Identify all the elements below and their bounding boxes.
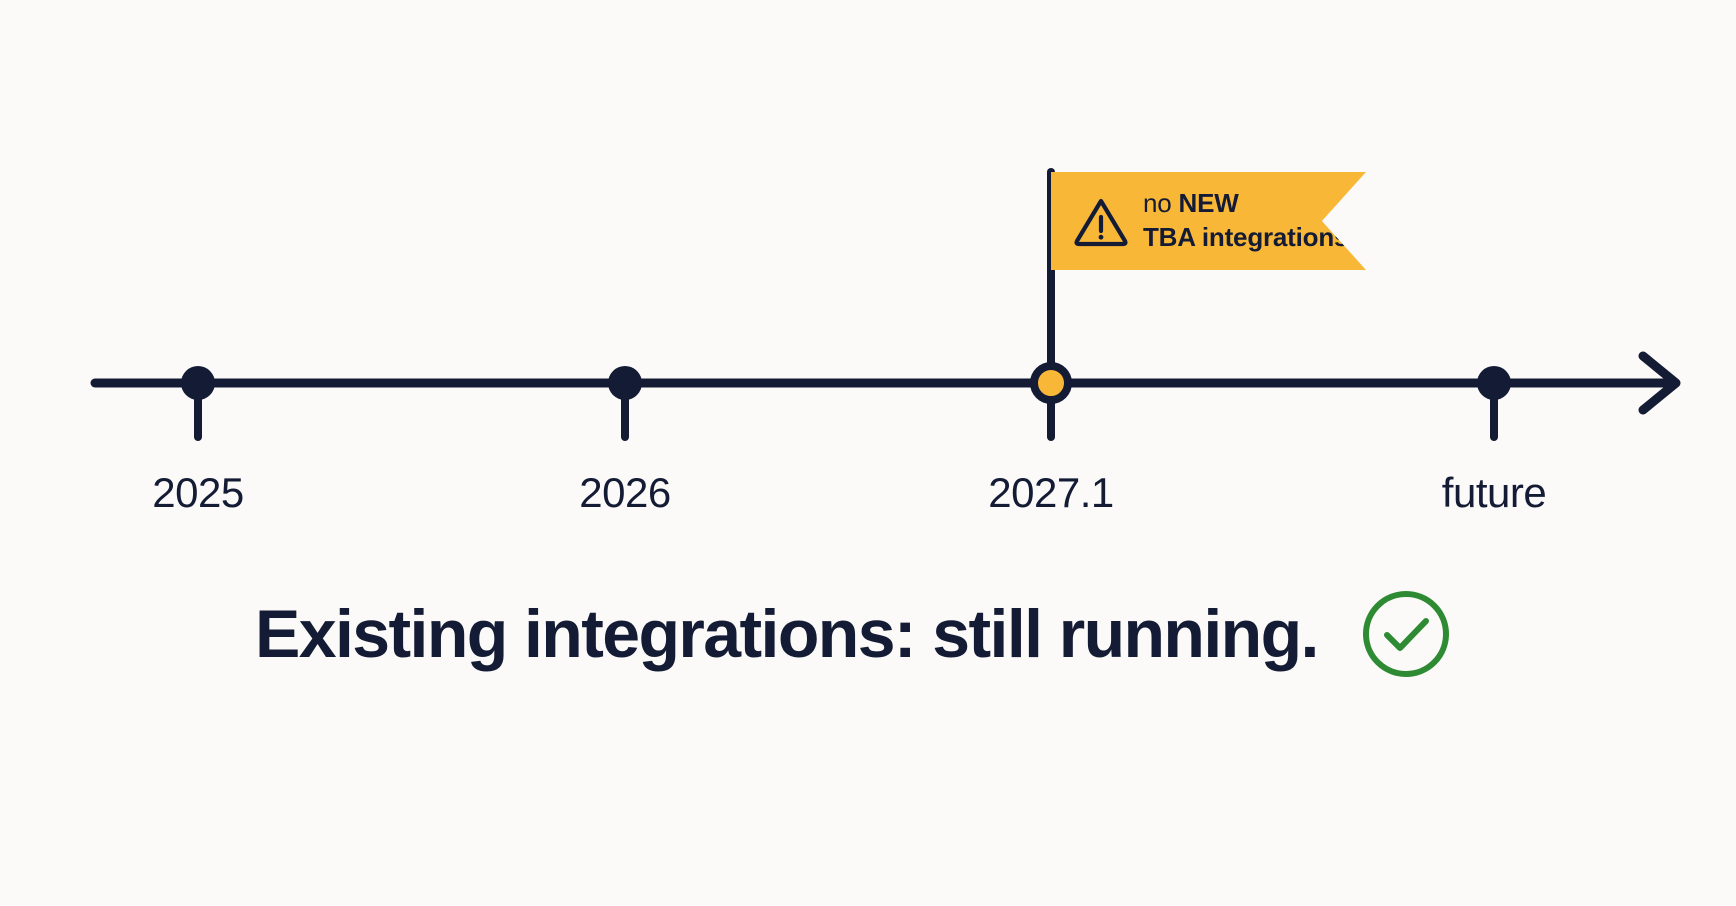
timeline-node-2027-1[interactable]: [1034, 366, 1068, 400]
timeline-node-2026[interactable]: [608, 366, 642, 400]
statement-row: Existing integrations: still running.: [255, 588, 1452, 680]
flag-text-block: no NEW TBA integrations: [1143, 187, 1348, 255]
tick-label-2025: 2025: [152, 472, 243, 514]
milestone-flag-banner[interactable]: no NEW TBA integrations: [1051, 172, 1366, 270]
warning-triangle-icon: [1073, 193, 1129, 249]
statement-text: Existing integrations: still running.: [255, 600, 1318, 668]
flag-line-1-keyword: NEW: [1179, 188, 1239, 218]
flag-line-1: no NEW: [1143, 187, 1348, 221]
tick-label-2026: 2026: [579, 472, 670, 514]
tick-label-2027-1: 2027.1: [988, 472, 1113, 514]
timeline-axis-graphic: [0, 0, 1736, 906]
flag-line-2: TBA integrations: [1143, 221, 1348, 255]
timeline-node-future[interactable]: [1477, 366, 1511, 400]
flag-line-1-prefix: no: [1143, 188, 1179, 218]
tick-label-future: future: [1442, 472, 1546, 514]
timeline-node-2025[interactable]: [181, 366, 215, 400]
circle-check-icon: [1360, 588, 1452, 680]
timeline-diagram: 2025 2026 2027.1 future no NEW TBA integ…: [0, 0, 1736, 906]
